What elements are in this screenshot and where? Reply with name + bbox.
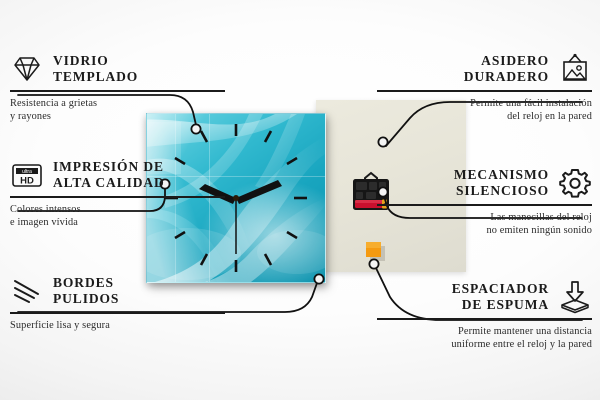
feature-header: ASIDERO DURADERO xyxy=(377,52,592,86)
desc-line-2: del reloj en la pared xyxy=(377,110,592,124)
desc-line-2: uniforme entre el reloj y la pared xyxy=(377,338,592,352)
desc-line-1: Las manecillas del reloj xyxy=(377,211,592,225)
title-line-1: BORDES xyxy=(53,275,119,291)
feature-silent-mechanism[interactable]: MECANISMO SILENCIOSO Las manecillas del … xyxy=(377,166,592,238)
feature-title: MECANISMO SILENCIOSO xyxy=(454,167,549,199)
minute-hand xyxy=(236,180,282,204)
hands-hub xyxy=(233,195,239,201)
feature-foam-spacer[interactable]: ESPACIADOR DE ESPUMA Permite mantener un… xyxy=(377,280,592,352)
svg-text:ultra: ultra xyxy=(22,169,32,175)
divider xyxy=(377,90,592,92)
feature-description: Permite mantener una distancia uniforme … xyxy=(377,325,592,352)
feature-description: Colores intensos e imagen vívida xyxy=(10,203,225,230)
divider xyxy=(10,90,225,92)
desc-line-2: y rayones xyxy=(10,110,225,124)
divider xyxy=(377,318,592,320)
title-line-2: DURADERO xyxy=(464,69,549,85)
title-line-2: SILENCIOSO xyxy=(454,183,549,199)
desc-line-1: Superficie lisa y segura xyxy=(10,319,225,333)
infographic-canvas: + xyxy=(0,0,600,400)
diagonal-stripes-icon xyxy=(10,274,44,308)
feature-header: ultra HD IMPRESIÓN DE ALTA CALIDAD xyxy=(10,158,225,192)
title-line-1: ASIDERO xyxy=(464,53,549,69)
title-line-1: ESPACIADOR xyxy=(452,281,549,297)
title-line-1: IMPRESIÓN DE xyxy=(53,159,165,175)
title-line-1: VIDRIO xyxy=(53,53,138,69)
feature-description: Superficie lisa y segura xyxy=(10,319,225,333)
gear-icon xyxy=(558,166,592,200)
feature-header: MECANISMO SILENCIOSO xyxy=(377,166,592,200)
desc-line-1: Permite una fácil instalación xyxy=(377,97,592,111)
desc-line-2: no emiten ningún sonido xyxy=(377,224,592,238)
feature-title: IMPRESIÓN DE ALTA CALIDAD xyxy=(53,159,165,191)
desc-line-1: Permite mantener una distancia xyxy=(377,325,592,339)
feature-polished-edges[interactable]: BORDES PULIDOS Superficie lisa y segura xyxy=(10,274,225,332)
feature-description: Permite una fácil instalación del reloj … xyxy=(377,97,592,124)
desc-line-1: Resistencia a grietas xyxy=(10,97,225,111)
feature-title: ASIDERO DURADERO xyxy=(464,53,549,85)
title-line-1: MECANISMO xyxy=(454,167,549,183)
title-line-2: PULIDOS xyxy=(53,291,119,307)
divider xyxy=(377,204,592,206)
feature-title: VIDRIO TEMPLADO xyxy=(53,53,138,85)
svg-text:HD: HD xyxy=(20,176,34,187)
down-arrow-pad-icon xyxy=(558,280,592,314)
feature-header: VIDRIO TEMPLADO xyxy=(10,52,225,86)
divider xyxy=(10,312,225,314)
feature-tempered-glass[interactable]: VIDRIO TEMPLADO Resistencia a grietas y … xyxy=(10,52,225,124)
diamond-icon xyxy=(10,52,44,86)
desc-line-1: Colores intensos xyxy=(10,203,225,217)
wall-frame-icon xyxy=(558,52,592,86)
title-line-2: TEMPLADO xyxy=(53,69,138,85)
feature-title: BORDES PULIDOS xyxy=(53,275,119,307)
desc-line-2: e imagen vívida xyxy=(10,216,225,230)
title-line-2: ALTA CALIDAD xyxy=(53,175,165,191)
title-line-2: DE ESPUMA xyxy=(452,297,549,313)
feature-header: ESPACIADOR DE ESPUMA xyxy=(377,280,592,314)
ultra-hd-icon: ultra HD xyxy=(10,158,44,192)
orange-foam-spacer xyxy=(366,242,385,261)
divider xyxy=(10,196,225,198)
feature-title: ESPACIADOR DE ESPUMA xyxy=(452,281,549,313)
feature-description: Las manecillas del reloj no emiten ningú… xyxy=(377,211,592,238)
feature-header: BORDES PULIDOS xyxy=(10,274,225,308)
feature-hd-print[interactable]: ultra HD IMPRESIÓN DE ALTA CALIDAD Color… xyxy=(10,158,225,230)
feature-durable-hanger[interactable]: ASIDERO DURADERO Permite una fácil insta… xyxy=(377,52,592,124)
feature-description: Resistencia a grietas y rayones xyxy=(10,97,225,124)
